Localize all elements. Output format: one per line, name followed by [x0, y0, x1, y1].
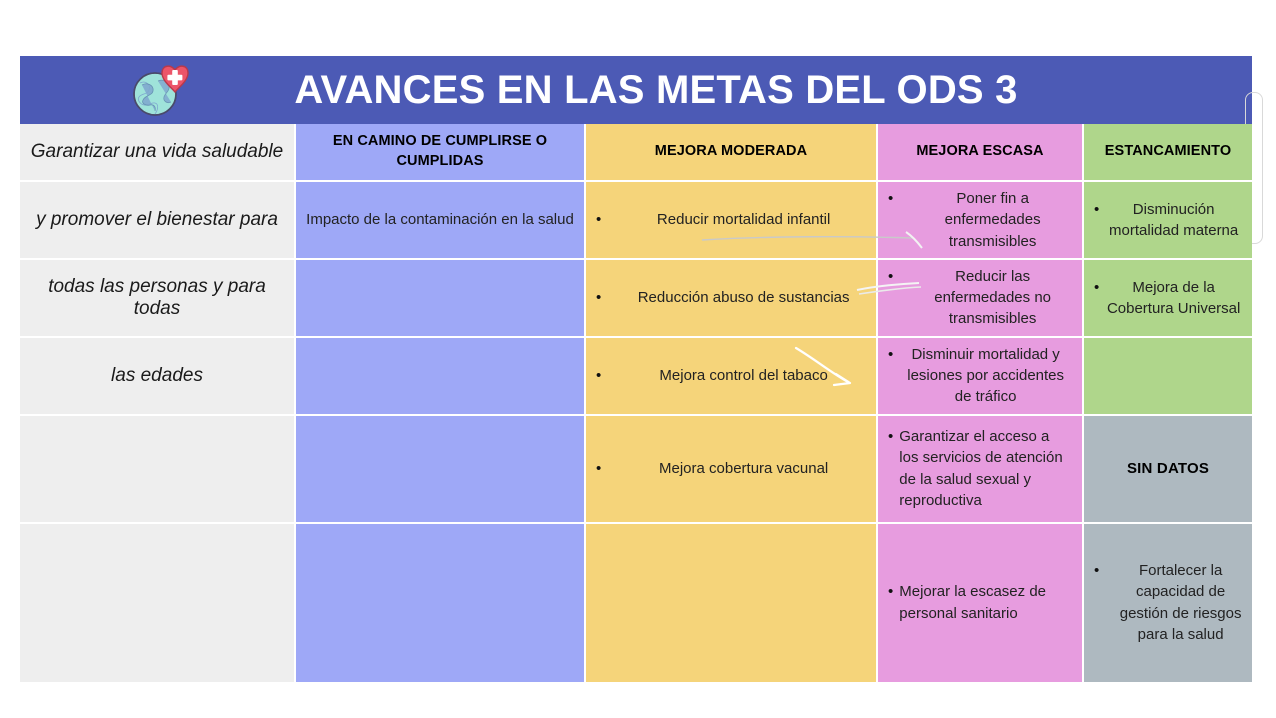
cell-text: Mejora control del tabaco [621, 365, 866, 386]
cell-on-track-r2 [296, 260, 586, 338]
cell-text: Reducir mortalidad infantil [621, 209, 866, 230]
table-row: • Mejorar la escasez de personal sanitar… [20, 524, 1252, 684]
bullet-icon: • [596, 458, 601, 479]
table-row: las edades • Mejora control del tabaco •… [20, 338, 1252, 416]
column-header-moderate: MEJORA MODERADA [586, 124, 878, 182]
bullet-icon: • [888, 581, 893, 602]
cell-stagnation-r2: • Mejora de la Cobertura Universal [1084, 260, 1252, 338]
goal-line-text: las edades [20, 361, 294, 391]
bullet-icon: • [1094, 277, 1099, 298]
cell-text: Disminuir mortalidad y lesiones por acci… [899, 344, 1072, 408]
progress-matrix-table: Garantizar una vida saludable EN CAMINO … [20, 124, 1252, 684]
cell-text: Garantizar el acceso a los servicios de … [899, 426, 1072, 511]
cell-slight-r2: • Reducir las enfermedades no transmisib… [878, 260, 1084, 338]
cell-on-track-r4 [296, 416, 586, 524]
column-header-label: MEJORA MODERADA [586, 138, 876, 166]
cell-slight-r1: • Poner fin a enfermedades transmisibles [878, 182, 1084, 260]
bullet-icon: • [888, 344, 893, 365]
cell-text: Poner fin a enfermedades transmisibles [913, 188, 1072, 252]
cell-text [296, 292, 584, 304]
column-header-label: MEJORA ESCASA [878, 138, 1082, 166]
goal-statement-line-4: las edades [20, 338, 296, 416]
column-header-label: ESTANCAMIENTO [1084, 138, 1252, 166]
cell-stagnation-r3 [1084, 338, 1252, 416]
cell-text: Impacto de la contaminación en la salud [296, 203, 584, 236]
cell-text [296, 370, 584, 382]
cell-slight-r4: • Garantizar el acceso a los servicios d… [878, 416, 1084, 524]
cell-on-track-r3 [296, 338, 586, 416]
cell-text [296, 597, 584, 609]
page-title: AVANCES EN LAS METAS DEL ODS 3 [20, 56, 1252, 124]
cell-text [586, 597, 876, 609]
goal-line-text: y promover el bienestar para [20, 205, 294, 235]
slide-title-banner: AVANCES EN LAS METAS DEL ODS 3 [20, 56, 1252, 124]
cell-stagnation-r1: • Disminución mortalidad materna [1084, 182, 1252, 260]
cell-on-track-r1: Impacto de la contaminación en la salud [296, 182, 586, 260]
bullet-icon: • [1094, 199, 1099, 220]
goal-line-text [20, 465, 294, 473]
cell-on-track-r5 [296, 524, 586, 684]
bullet-icon: • [1094, 560, 1099, 581]
column-header-label: EN CAMINO DE CUMPLIRSE O CUMPLIDAS [296, 128, 584, 175]
cell-text: Mejora cobertura vacunal [621, 458, 866, 479]
cell-goal-r5 [20, 524, 296, 684]
bullet-icon: • [888, 426, 893, 447]
cell-moderate-r3: • Mejora control del tabaco [586, 338, 878, 416]
column-header-slight: MEJORA ESCASA [878, 124, 1084, 182]
cell-text: Reducción abuso de sustancias [621, 287, 866, 308]
cell-text: Mejora de la Cobertura Universal [1105, 277, 1242, 320]
bullet-icon: • [596, 287, 601, 308]
goal-line-text: Garantizar una vida saludable [20, 137, 294, 167]
table-row: y promover el bienestar para Impacto de … [20, 182, 1252, 260]
presentation-slide: AVANCES EN LAS METAS DEL ODS 3 Garantiza… [0, 0, 1276, 718]
goal-line-text [20, 599, 294, 607]
status-badge: SIN DATOS [1084, 460, 1252, 477]
cell-moderate-r5 [586, 524, 878, 684]
cell-stagnation-r4-no-data: SIN DATOS [1084, 416, 1252, 524]
cell-text: Disminución mortalidad materna [1105, 199, 1242, 242]
cell-slight-r5: • Mejorar la escasez de personal sanitar… [878, 524, 1084, 684]
goal-statement-line-2: y promover el bienestar para [20, 182, 296, 260]
cell-goal-r4 [20, 416, 296, 524]
goal-line-text: todas las personas y para todas [20, 272, 294, 324]
bullet-icon: • [596, 365, 601, 386]
cell-moderate-r2: • Reducción abuso de sustancias [586, 260, 878, 338]
cell-moderate-r1: • Reducir mortalidad infantil [586, 182, 878, 260]
bullet-icon: • [596, 209, 601, 230]
cell-text [296, 463, 584, 475]
cell-text: Reducir las enfermedades no transmisible… [913, 266, 1072, 330]
goal-statement-line-1: Garantizar una vida saludable [20, 124, 296, 182]
cell-slight-r3: • Disminuir mortalidad y lesiones por ac… [878, 338, 1084, 416]
column-header-stagnation: ESTANCAMIENTO [1084, 124, 1252, 182]
cell-text: Mejorar la escasez de personal sanitario [899, 581, 1072, 624]
cell-stagnation-r5: • Fortalecer la capacidad de gestión de … [1084, 524, 1252, 684]
table-header-row: Garantizar una vida saludable EN CAMINO … [20, 124, 1252, 182]
table-row: todas las personas y para todas • Reducc… [20, 260, 1252, 338]
cell-text: Fortalecer la capacidad de gestión de ri… [1119, 560, 1242, 645]
bullet-icon: • [888, 188, 893, 209]
goal-statement-line-3: todas las personas y para todas [20, 260, 296, 338]
column-header-on-track: EN CAMINO DE CUMPLIRSE O CUMPLIDAS [296, 124, 586, 182]
cell-moderate-r4: • Mejora cobertura vacunal [586, 416, 878, 524]
table-row: • Mejora cobertura vacunal • Garantizar … [20, 416, 1252, 524]
bullet-icon: • [888, 266, 893, 287]
